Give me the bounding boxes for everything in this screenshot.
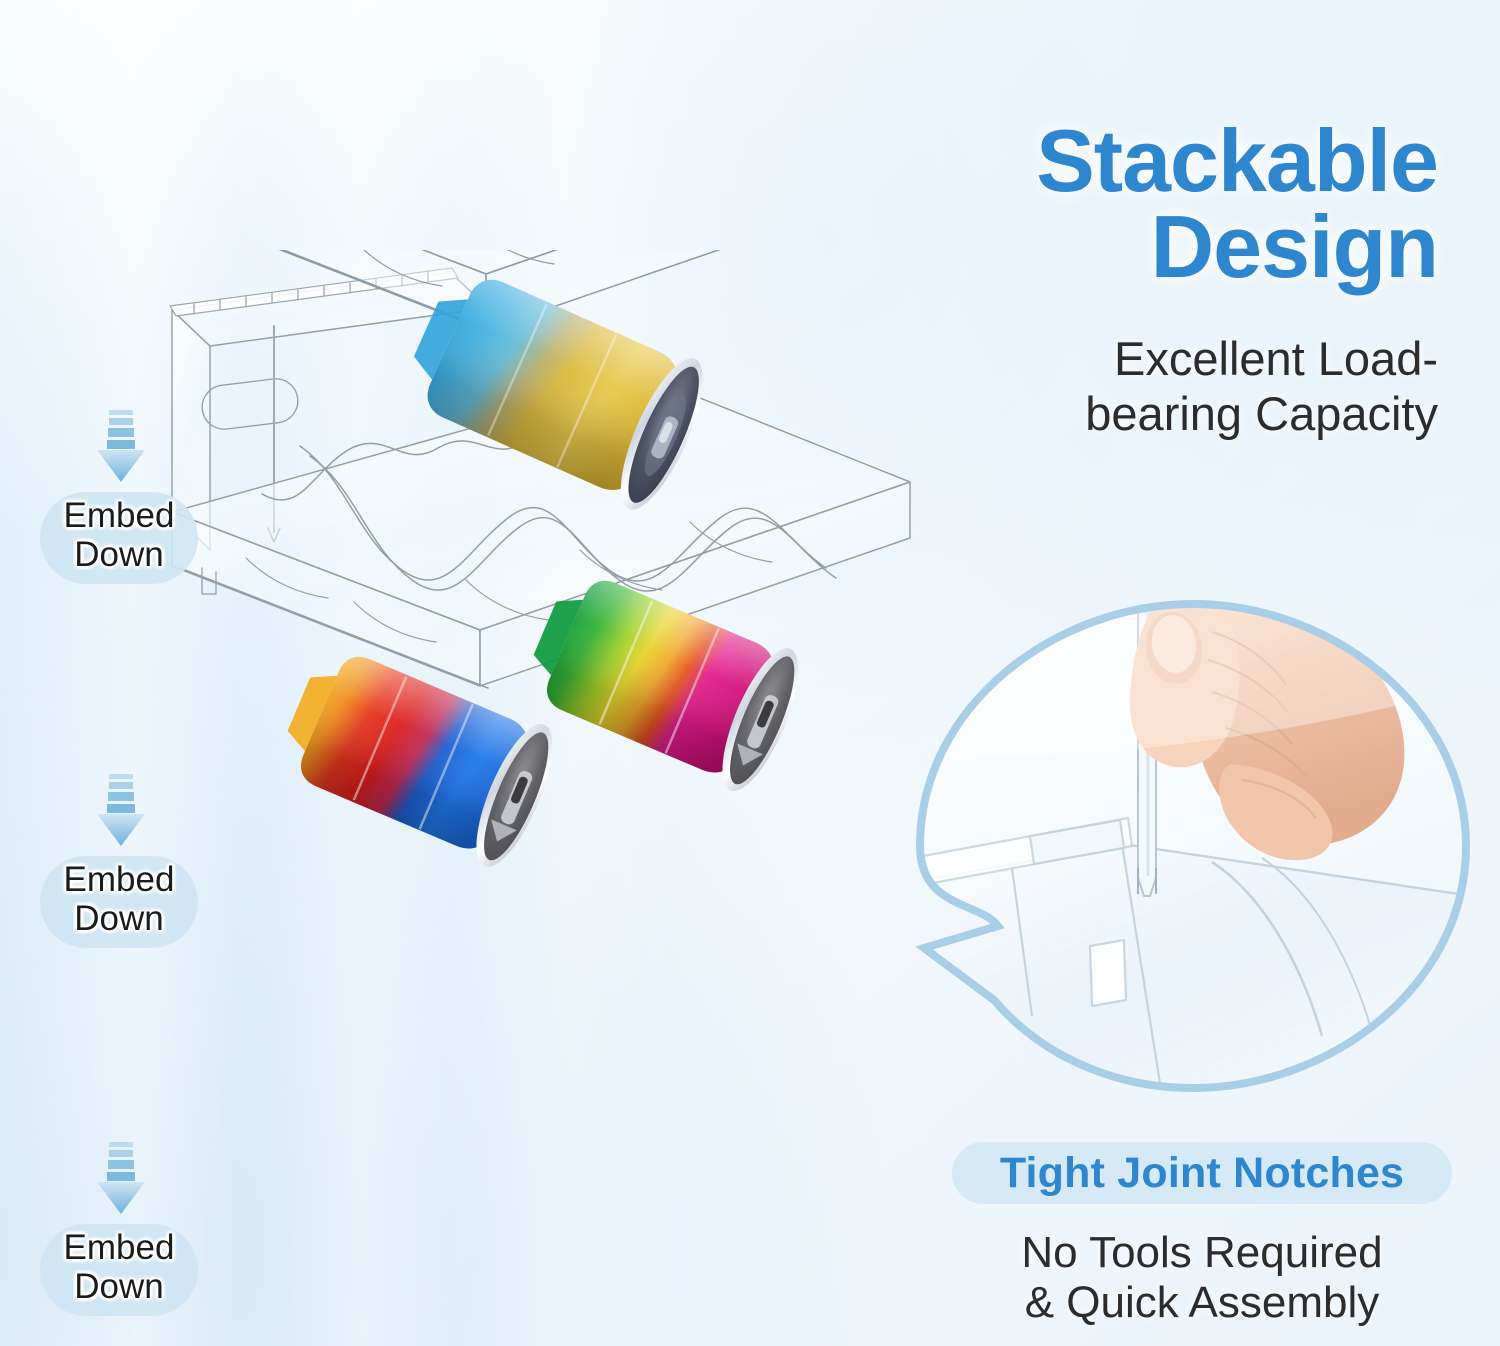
marker-label-line2: Down [40,535,198,574]
marker-label-line2: Down [40,1267,198,1306]
subheadline-line1: Excellent Load- [878,332,1438,387]
bottom-copy-line1: No Tools Required [952,1228,1452,1278]
inset-photo-content [912,596,1474,1096]
marker-label: Embed Down [40,1228,198,1306]
marketing-image-canvas: Embed Down Embed Down [0,0,1500,1346]
marker-label-line2: Down [40,899,198,938]
badge-tight-joint-notches: Tight Joint Notches [952,1142,1452,1204]
bottom-copy-line2: & Quick Assembly [952,1278,1452,1328]
bottom-copy: No Tools Required & Quick Assembly [952,1228,1452,1328]
product-illustration [150,250,990,1346]
inset-photo-callout [912,596,1474,1096]
headline-line2: Design [898,204,1438,290]
arrow-down-icon [92,408,150,484]
headline-line1: Stackable [1036,111,1438,210]
marker-label-line1: Embed [40,1228,198,1267]
arrow-down-icon [92,1140,150,1216]
badge-label: Tight Joint Notches [1000,1149,1404,1198]
marker-label: Embed Down [40,860,198,938]
marker-label-line1: Embed [40,860,198,899]
marker-label-line1: Embed [40,496,198,535]
subheadline: Excellent Load- bearing Capacity [878,332,1438,442]
arrow-down-icon [92,772,150,848]
headline: Stackable Design [898,118,1438,290]
marker-label: Embed Down [40,496,198,574]
subheadline-line2: bearing Capacity [878,387,1438,442]
